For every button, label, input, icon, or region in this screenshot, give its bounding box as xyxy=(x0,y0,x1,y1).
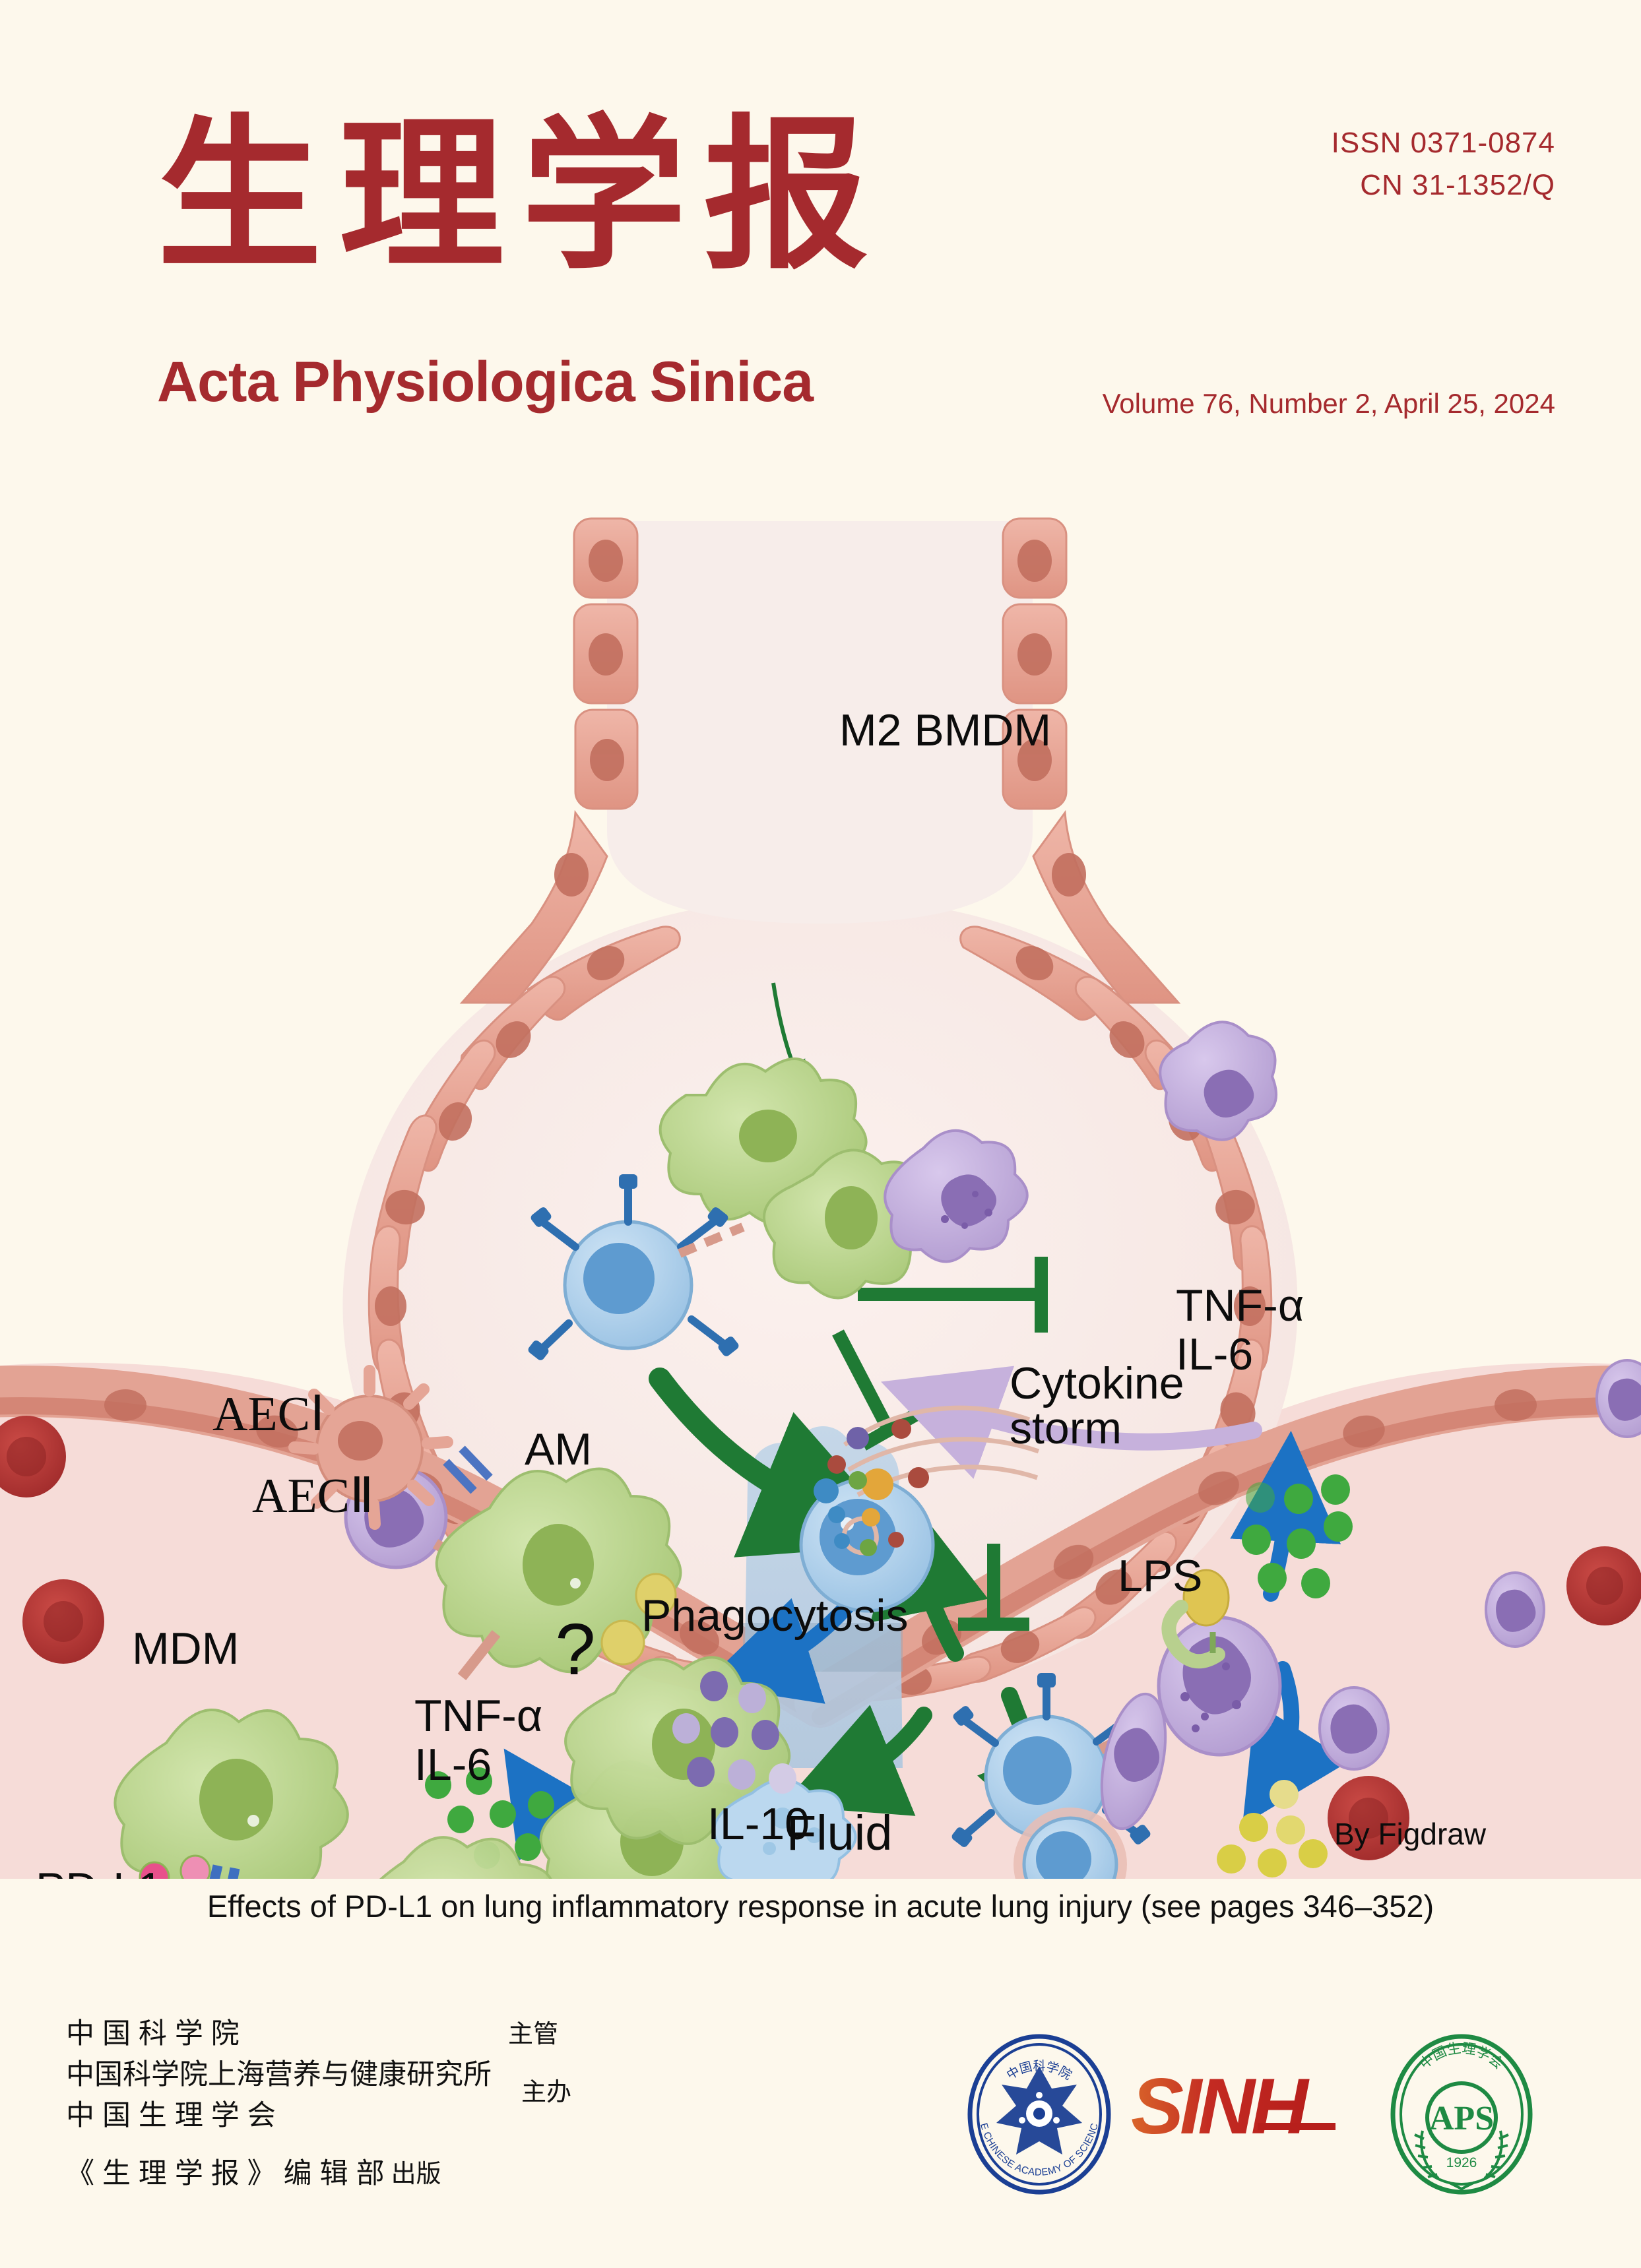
label-tnf-left: TNF-α xyxy=(414,1691,542,1741)
cas-emblem-icon xyxy=(996,2066,1082,2155)
rbc xyxy=(1566,1546,1641,1625)
label-tnf-right: TNF-α xyxy=(1176,1280,1304,1331)
logo-row: 中国科学院 THE CHINESE ACADEMY OF SCIENCES xyxy=(950,2032,1584,2197)
masthead: 生理学报 Acta Physiologica Sinica ISSN 0371-… xyxy=(0,0,1641,462)
label-fluid: Fluid xyxy=(787,1806,892,1860)
journal-cover: 生理学报 Acta Physiologica Sinica ISSN 0371-… xyxy=(0,0,1641,2268)
journal-title-chinese: 生理学报 xyxy=(157,115,885,280)
cover-caption: Effects of PD-L1 on lung inflammatory re… xyxy=(0,1888,1641,1924)
label-cytokine-storm-1: Cytokine xyxy=(1010,1358,1184,1408)
label-aec1: AECⅠ xyxy=(212,1387,325,1441)
publisher-line-2: 中国科学院上海营养与健康研究所 xyxy=(66,2052,492,2093)
caps-center-text: APS xyxy=(1429,2100,1494,2137)
label-aec2: AECⅡ xyxy=(252,1469,373,1523)
sinh-wordmark-text: SINH xyxy=(1131,2062,1310,2151)
sinh-logo: SINH xyxy=(1128,2060,1353,2162)
cover-figure: ? xyxy=(0,462,1641,1879)
label-il6-right: IL-6 xyxy=(1176,1329,1253,1379)
journal-title-english: Acta Physiologica Sinica xyxy=(157,350,813,415)
label-lps: LPS xyxy=(1118,1551,1203,1601)
publisher-suffix-1: 主管 xyxy=(508,2013,558,2050)
label-mdm: MDM xyxy=(132,1623,239,1674)
publisher-suffix-4: 出版 xyxy=(391,2153,441,2189)
label-phagocytosis: Phagocytosis xyxy=(641,1591,908,1641)
question-mark-icon: ? xyxy=(555,1609,595,1690)
issn-block: ISSN 0371-0874 CN 31-1352/Q xyxy=(1332,122,1555,206)
rbc xyxy=(22,1579,104,1664)
issn-line: ISSN 0371-0874 xyxy=(1332,122,1555,164)
label-cytokine-storm-2: storm xyxy=(1010,1403,1122,1453)
caps-logo: APS 1926 中国生理学会 xyxy=(1386,2032,1537,2200)
label-il6-left: IL-6 xyxy=(414,1740,492,1790)
publisher-zhuban-label: 主办 xyxy=(521,2071,571,2108)
publisher-line-4: 《 生 理 学 报 》 编 辑 部 xyxy=(66,2151,385,2191)
footer: 中 国 科 学 院 主管 中国科学院上海营养与健康研究所 中 国 生 理 学 会… xyxy=(0,1979,1641,2268)
publisher-line-3: 中 国 生 理 学 会 xyxy=(66,2093,501,2133)
cn-number-line: CN 31-1352/Q xyxy=(1332,164,1555,206)
label-spdl1: sPD-L1 xyxy=(13,1864,163,1879)
publisher-line-1: 中 国 科 学 院 xyxy=(66,2011,501,2052)
figdraw-credit: By Figdraw xyxy=(1334,1817,1487,1851)
caps-year-text: 1926 xyxy=(1446,2155,1477,2170)
label-am: AM xyxy=(525,1424,592,1474)
cas-logo: 中国科学院 THE CHINESE ACADEMY OF SCIENCES xyxy=(963,2032,1115,2200)
volume-issue-line: Volume 76, Number 2, April 25, 2024 xyxy=(1103,388,1555,420)
label-m2-bmdm: M2 BMDM xyxy=(839,705,1051,755)
